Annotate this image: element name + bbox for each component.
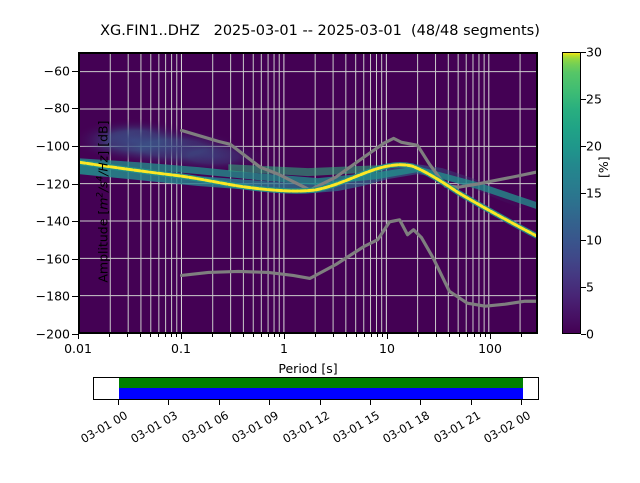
colorbar (562, 52, 581, 334)
y-tick-label: −160 (22, 251, 70, 266)
x-tick-label: 100 (478, 341, 502, 356)
y-axis-ticks: −60 −80 −100 −120 −140 −160 −180 −200 (0, 0, 640, 480)
x-tick-label: 1 (280, 341, 288, 356)
colorbar-tick-label: 20 (586, 139, 602, 154)
colorbar-label: [%] (596, 156, 611, 178)
time-coverage-bar (93, 377, 539, 400)
colorbar-tick-label: 15 (586, 186, 602, 201)
colorbar-tick-label: 25 (586, 92, 602, 107)
colorbar-tick-label: 10 (586, 233, 602, 248)
y-tick-label: −180 (22, 289, 70, 304)
y-tick-label: −80 (22, 101, 70, 116)
x-tick-label: 0.1 (171, 341, 191, 356)
colorbar-tick-label: 30 (586, 45, 602, 60)
x-axis-label: Period [s] (78, 361, 538, 376)
colorbar-tick-label: 5 (586, 280, 594, 295)
coverage-green-bar (119, 378, 523, 388)
y-tick-label: −60 (22, 63, 70, 78)
ppsd-figure: XG.FIN1..DHZ 2025-03-01 -- 2025-03-01 (4… (0, 0, 640, 480)
x-tick-label: 0.01 (64, 341, 92, 356)
x-tick-label: 10 (379, 341, 395, 356)
y-tick-label: −100 (22, 139, 70, 154)
y-tick-label: −120 (22, 176, 70, 191)
y-tick-label: −140 (22, 214, 70, 229)
coverage-blue-bar (119, 388, 523, 399)
y-tick-label: −200 (22, 327, 70, 342)
colorbar-tick-label: 0 (586, 327, 594, 342)
